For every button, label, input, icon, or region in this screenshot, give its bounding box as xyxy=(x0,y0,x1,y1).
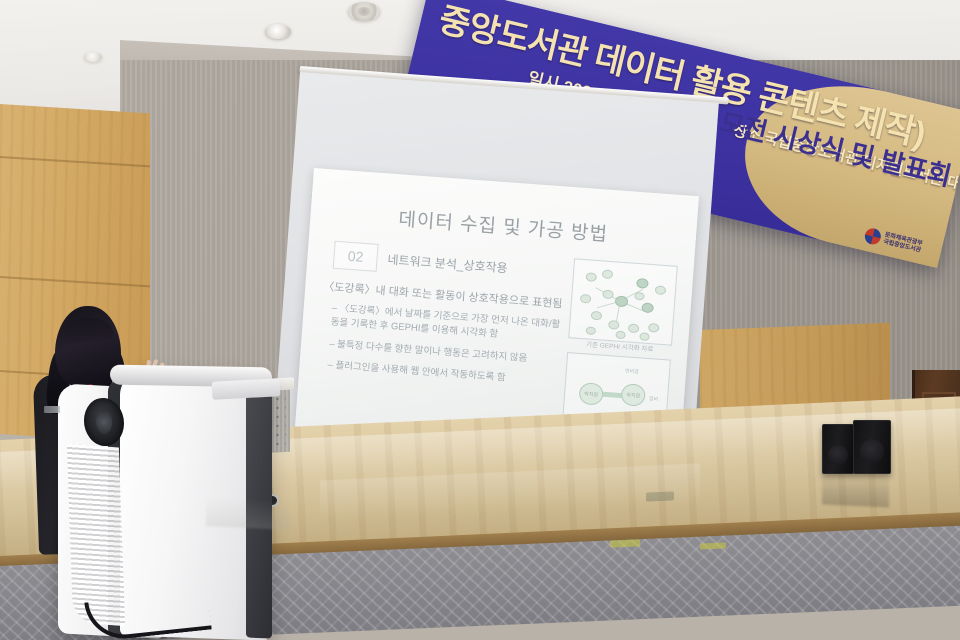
floor-marker xyxy=(610,539,640,547)
podium-logo xyxy=(44,406,60,413)
speaker-reflection xyxy=(822,470,889,507)
section-label: 네트워크 분석_상호작용 xyxy=(387,250,508,276)
presenter-bangs xyxy=(64,318,114,342)
ceiling-vent-icon xyxy=(348,2,380,21)
node-label: 연비겸 xyxy=(625,367,639,375)
slide-section-header: 02 네트워크 분석_상호작용 xyxy=(333,241,566,286)
network-graph-diagram xyxy=(568,258,678,345)
conference-photo-scene: 중앙도서관 데이터 활용 콘텐츠 제작) 일시 2023. 12. 8.(금) … xyxy=(0,0,960,640)
node-label: 정비 xyxy=(649,395,659,403)
ceiling-downlight xyxy=(265,24,291,39)
floor-marker xyxy=(700,542,726,549)
podium-desk-surface xyxy=(212,378,281,400)
node-label: 박지원 xyxy=(578,382,604,406)
table-reflection xyxy=(206,496,290,530)
taegeuk-icon xyxy=(864,227,883,246)
loudspeaker xyxy=(822,424,854,474)
ceiling-downlight xyxy=(84,52,102,62)
node-label: 하지원 xyxy=(620,383,646,407)
section-number-badge: 02 xyxy=(333,241,379,272)
loudspeaker xyxy=(853,420,891,474)
